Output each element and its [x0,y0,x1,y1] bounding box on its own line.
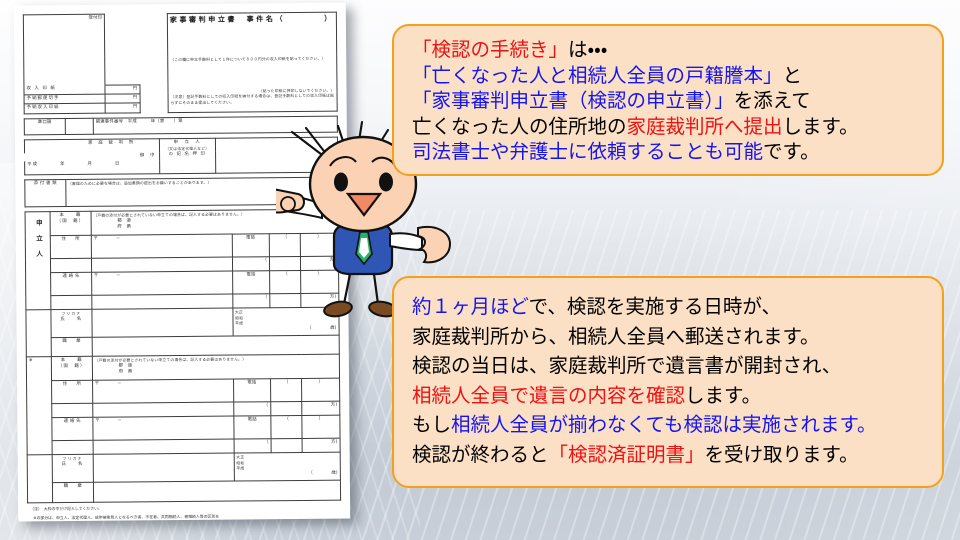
callout-2-line-6: 検認が終わると「検認済証明書」を受け取ります。 [412,440,942,470]
contact-value-cell-2: 〒 － [93,416,234,440]
callout-1-line-3-run-1: 「家事審判申立書（検認の申立書）」 [412,89,734,112]
court-label-2: 御 中 [140,153,157,158]
address-kata-2: 方) [302,401,340,415]
callout-2-line-5-run-2: 相続人全員が揃わなくても検認は実施されます。 [451,413,877,436]
honseki-fuken-2: 府 県 [95,368,337,376]
contact-label: 連 絡 先 [51,272,92,295]
address-kata-open: （ [232,257,270,271]
callout-2-line-6-run-2: 「検認済証明書」 [549,443,705,466]
contact-label-2: 連 絡 先 [52,417,93,440]
occupation-value-cell-2 [93,480,340,502]
attachment-label: 添 付 書 類 [25,180,66,207]
mascot-pointing-hand-icon [276,190,304,213]
callout-1-line-3: 「家事審判申立書（検認の申立書）」を添えて [412,88,942,114]
callout-1-line-3-run-2: を添えて [734,89,811,112]
fee-row-label-1: 予納郵便切手 [27,96,60,101]
address-value-cell-2: 〒 － [92,379,233,403]
name-label-cell: フリガナ 氏 名 [51,309,92,337]
contact-kata-open: （ [232,294,270,308]
callout-1-line-5-run-2: です。 [763,140,820,163]
contact-value-cell: 〒 － [91,271,232,295]
receipt-stamp-label: 受付印 [88,16,102,21]
callout-1-line-5: 司法書士や弁護士に依頼することも可能です。 [412,139,942,165]
callout-1-line-1-run-1: 「検認の手続き」 [412,38,568,61]
callout-2-line-4: 相続人全員で遺言の内容を確認します。 [412,381,942,411]
contact-tel-label-2: 電話 [233,416,271,439]
callout-box-schedule: 約１ヶ月ほどで、検認を実施する日時が、家庭裁判所から、相続人全員へ郵送されます。… [392,276,944,488]
mascot-eye-right [379,173,393,192]
address-postal-mark: 〒 [93,237,98,242]
second-party-asterisk: ※ [26,357,52,455]
contact-postal-dash-2: － [101,419,122,424]
form-note-1: （注） 太枠の中だけ記入してください。 [27,504,341,513]
address-postal-dash: － [100,237,121,242]
applicant-vertical-text: 申立人 [33,219,43,266]
callout-2-line-2-run-1: 家庭裁判所から、相続人全員へ郵送されます。 [412,325,820,348]
mascot-shoe-left [323,300,353,319]
honseki-label: 本 籍 （国 籍） [50,211,91,235]
name-label-cell-2: フリガナ 氏 名 [52,454,93,482]
applicant-vertical-label: 申立人 [25,212,51,310]
applicant-vertical-label-2 [26,310,51,357]
contact-tel-close-2: ） [302,415,340,438]
filing-date-line: 平成 年 月 日 [27,162,120,168]
callout-1-line-4: 亡くなった人の住所地の家庭裁判所へ提出します。 [412,114,942,140]
address-tel-close-2: ） [302,378,340,401]
applicant-seal-cell: 申 立 人 （又は法定代理人など） の 記 名 押 印 [159,138,216,174]
callout-2-line-3: 検認の当日は、家庭裁判所で遺言書が開封され、 [412,351,942,381]
contact-tel-label: 電話 [232,271,270,294]
counter-label: 準口頭 [24,118,65,134]
applicant-seal-line-3: の 記 名 押 印 [162,151,213,158]
callout-1-text: 「検認の手続き」は・・・「亡くなった人と相続人全員の戸籍謄本」と「家事審判申立書… [394,26,942,165]
contact-postal-mark-2: 〒 [95,419,100,424]
mascot-legs [344,274,378,304]
form-header-table: 受付印 家事審判申立書 事件名（ ） （この欄に申立手数料として１件について８０… [23,12,338,114]
revenue-stamp-note-3: （注意）登記手数料としての収入印紙を納付する場合は、登記手数料としての収入印紙は… [170,93,334,106]
honseki-label-sub: （国 籍） [53,219,89,226]
callout-2-line-1: 約１ヶ月ほどで、検認を実施する日時が、 [412,292,942,322]
contact-kata-2: 方) [302,438,340,452]
receipt-stamp-box: 受付印 [23,14,105,57]
mascot-eye-left [334,173,348,192]
address-tel-label: 電話 [232,234,270,257]
callout-2-line-1-run-1: 約１ヶ月ほど [412,295,529,318]
address-tel-label-2: 電話 [233,379,271,402]
callout-2-line-6-run-1: 検認が終わると [412,443,549,466]
honseki-label-2: 本 籍 （国 籍） [51,357,92,381]
age-line-2: （ 歳) [236,471,337,478]
occupation-label: 職 業 [51,337,92,356]
address-label-2: 住 所 [52,380,93,403]
second-party-asterisk-mark: ※ [29,358,33,363]
callout-2-line-5-run-1: もし [412,413,451,436]
callout-1-line-2-run-2: と [783,64,803,87]
callout-1-line-2: 「亡くなった人と相続人全員の戸籍謄本」と [412,63,942,89]
contact-kata-open-2: （ [234,439,272,453]
court-label: 家 庭 裁 判 所 [88,140,135,145]
name-label-2: 氏 名 [55,461,91,468]
form-second-party-table: ※ 本 籍 （国 籍） （戸籍の添付が必要とされていない申立ての場合は、記入する… [26,355,341,504]
callout-1-line-5-run-1: 司法書士や弁護士に依頼することも可能 [412,140,763,163]
callout-2-line-2: 家庭裁判所から、相続人全員へ郵送されます。 [412,322,942,352]
fee-row-unit-0: 円 [133,86,138,91]
occupation-label-2: 職 業 [52,482,93,502]
slide-canvas: 受付印 家事審判申立書 事件名（ ） （この欄に申立手数料として１件について８０… [0,0,960,540]
callout-1-line-2-run-1: 「亡くなった人と相続人全員の戸籍謄本」 [412,64,783,87]
address-kata-open-2: （ [233,402,271,416]
birthdate-cell-2: 大正 昭和 平成 （ 歳) [234,452,341,481]
attachment-note: （審理のために必要な場合は、追加書類の提出をお願いすることがあります。） [68,180,212,186]
callout-2-line-4-run-2: します。 [685,384,761,407]
form-title-close: ） [324,14,334,24]
callout-1-line-4-run-1: 亡くなった人の住所地の [412,115,627,138]
address-tel-open-2: （ [271,378,302,401]
callout-2-line-4-run-1: 相続人全員で遺言の内容を確認 [412,384,685,407]
occupation-value-cell [92,335,339,356]
fee-row-label-2: 予納収入印紙 [27,105,60,110]
callout-1-line-4-run-2: 家庭裁判所へ提出 [627,115,783,138]
form-title: 家事審判申立書 事件名（ [170,15,285,24]
address-postal-dash-2: － [101,382,122,387]
callout-2-text: 約１ヶ月ほどで、検認を実施する日時が、家庭裁判所から、相続人全員へ郵送されます。… [394,278,942,469]
address-value-cell: 〒 － [91,234,232,258]
callout-1-line-4-run-3: します。 [783,115,859,138]
callout-1-line-1: 「検認の手続き」は・・・ [412,37,942,63]
address-postal-mark-2: 〒 [95,382,100,387]
contact-postal-dash: － [100,274,121,279]
honseki-value-cell-2: （戸籍の添付が必要とされていない申立ての場合は、記入する必要はありません。） 都… [92,355,339,381]
name-value-cell [92,308,233,337]
fee-row-unit-1: 円 [133,95,138,100]
contact-tel-open-2: （ [271,415,302,438]
contact-postal-mark: 〒 [94,274,99,279]
callout-2-line-5: もし相続人全員が揃わなくても検認は実施されます。 [412,410,942,440]
callout-2-line-3-run-1: 検認の当日は、家庭裁判所で遺言書が開封され、 [412,354,841,377]
address-label: 住 所 [50,235,91,258]
fee-row-unit-2: 円 [133,105,138,110]
name-label: 氏 名 [54,316,90,323]
callout-2-line-1-run-2: で、検認を実施する日時が、 [529,295,781,318]
callout-1-line-1-run-2: は・・・ [568,38,607,61]
name-value-cell-2 [93,453,234,482]
callout-2-line-6-run-3: を受け取ります。 [705,443,859,466]
fee-row-label-0: 収 入 印 紙 [26,86,55,91]
honseki-label-sub-2: （国 籍） [54,364,90,371]
callout-box-procedure: 「検認の手続き」は・・・「亡くなった人と相続人全員の戸籍謄本」と「家事審判申立書… [392,24,944,176]
